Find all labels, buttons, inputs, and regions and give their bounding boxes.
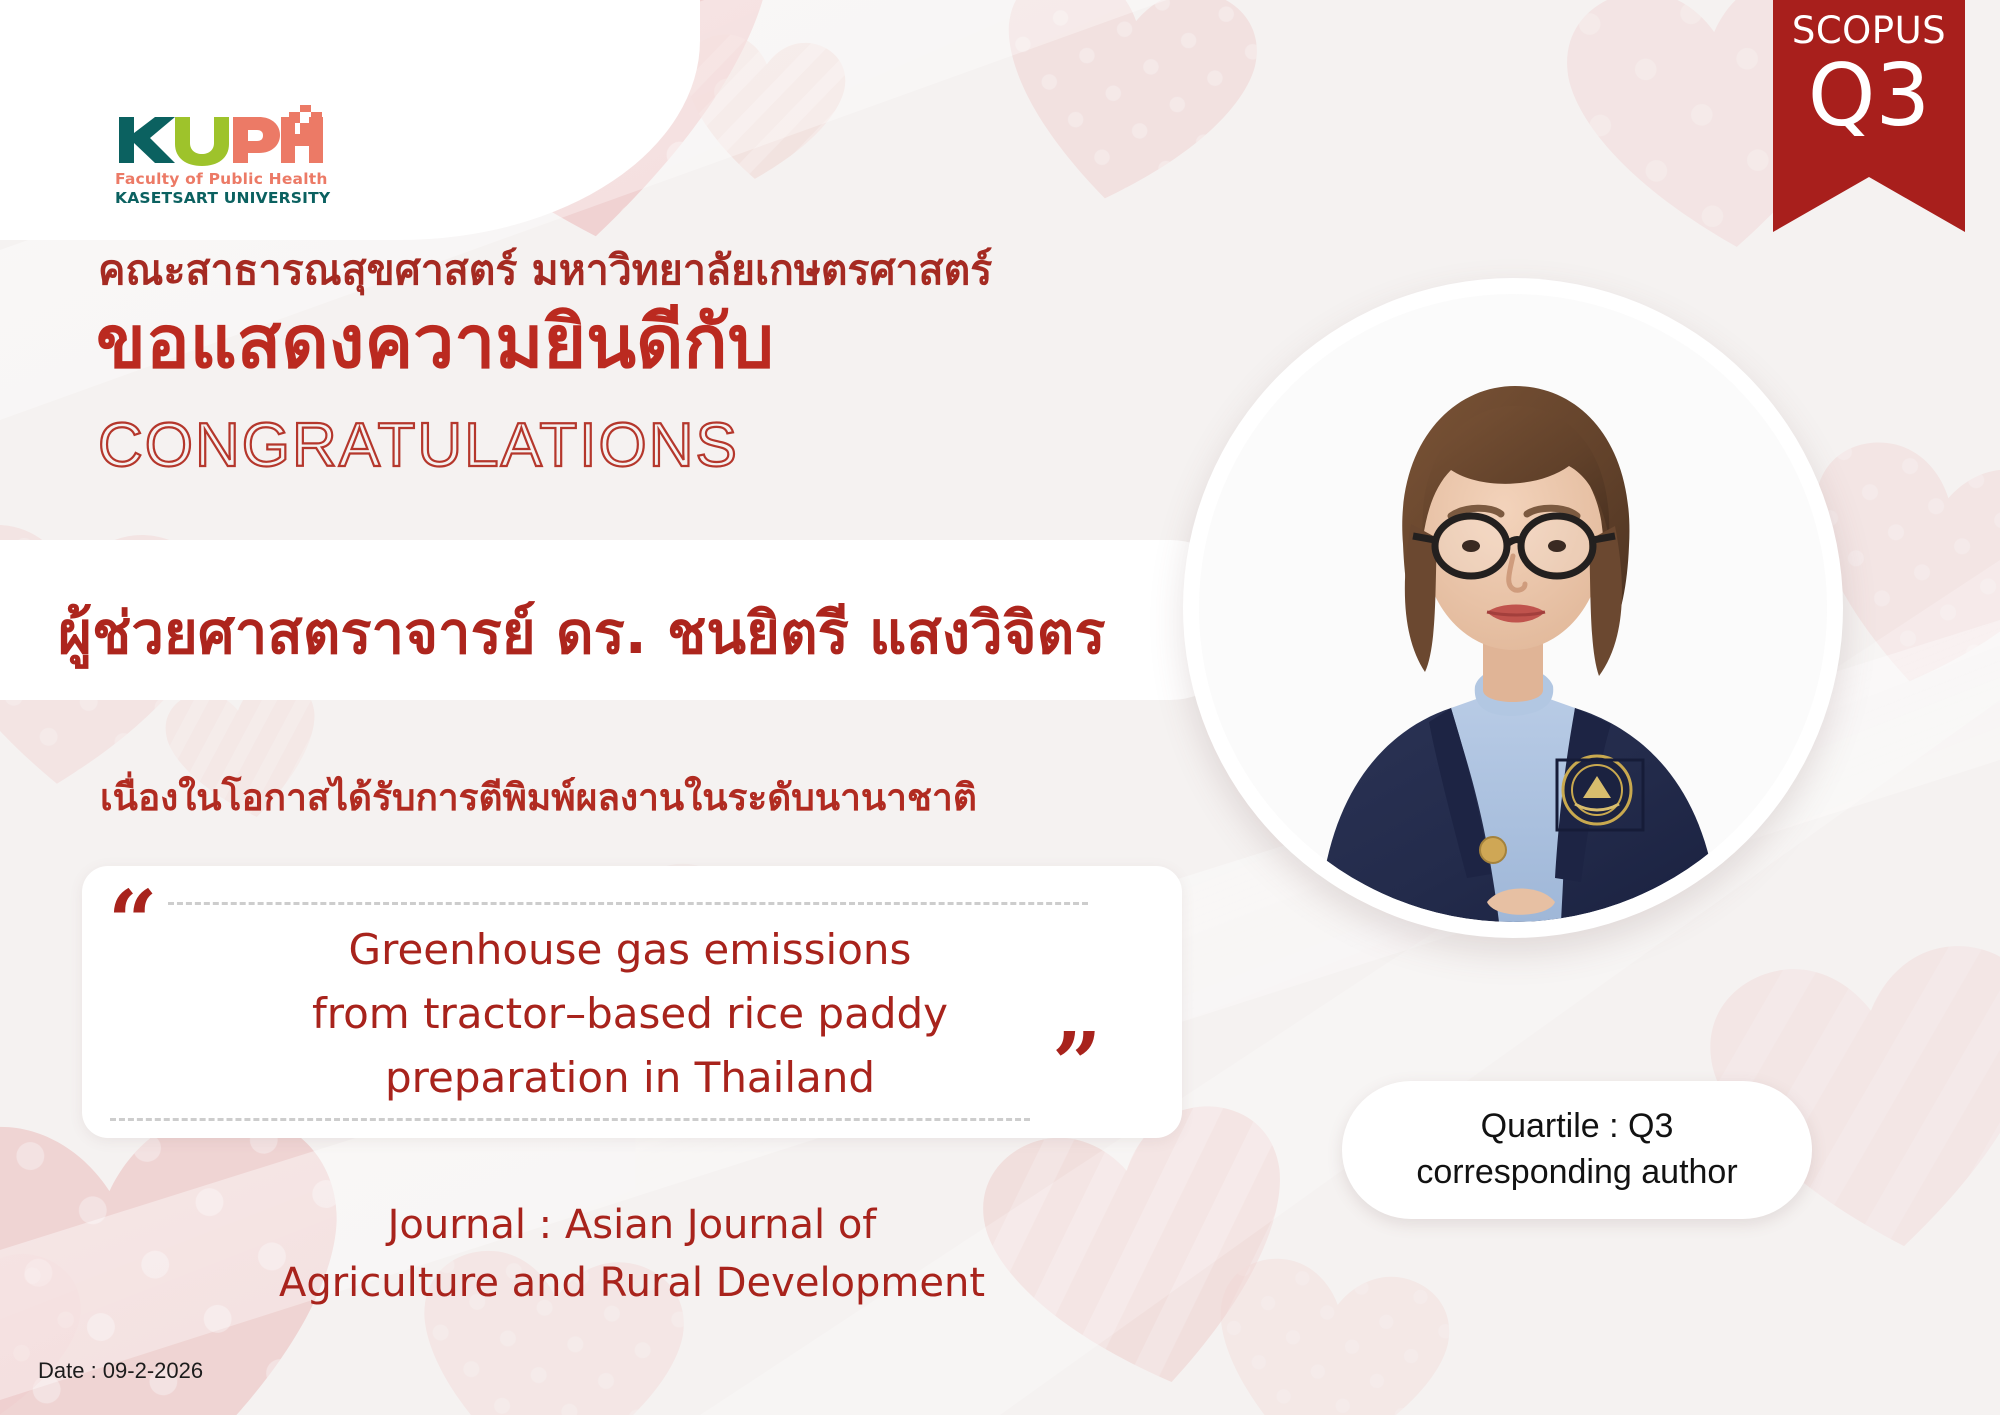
quartile-line-1: Quartile : Q3: [1481, 1104, 1674, 1150]
journal-line-1: Journal : Asian Journal of: [82, 1196, 1182, 1254]
scopus-label: SCOPUS: [1792, 12, 1946, 49]
article-title-line-1: Greenhouse gas emissions: [150, 918, 1110, 982]
close-quote-icon: ”: [1052, 1022, 1101, 1108]
quartile-info-pill: Quartile : Q3 corresponding author: [1342, 1081, 1812, 1219]
logo-faculty-line: Faculty of Public Health: [115, 170, 330, 188]
author-portrait-frame: [1183, 278, 1843, 938]
article-title-line-3: preparation in Thailand: [150, 1046, 1110, 1110]
poster-date: Date : 09-2-2026: [38, 1358, 203, 1384]
journal-info: Journal : Asian Journal of Agriculture a…: [82, 1196, 1182, 1312]
avatar: [1199, 294, 1827, 922]
congratulations-english-heading: CONGRATULATIONS: [98, 410, 739, 481]
congratulations-thai-heading: ขอแสดงความยินดีกับ: [96, 300, 774, 386]
congratulations-poster: Faculty of Public Health KASETSART UNIVE…: [0, 0, 2000, 1415]
article-title-line-2: from tractor–based rice paddy: [150, 982, 1110, 1046]
kuph-logo-mark-icon: [115, 105, 325, 167]
author-name: ผู้ช่วยศาสตราจารย์ ดร. ชนยิตรี แสงวิจิตร: [58, 586, 1105, 679]
kuph-logo: Faculty of Public Health KASETSART UNIVE…: [115, 105, 330, 207]
scopus-quartile-value: Q3: [1808, 55, 1930, 138]
author-portrait-illustration: [1199, 294, 1827, 922]
faculty-heading: คณะสาธารณสุขศาสตร์ มหาวิทยาลัยเกษตรศาสตร…: [98, 238, 992, 303]
article-title-text: Greenhouse gas emissions from tractor–ba…: [150, 918, 1110, 1109]
quote-divider-top: [168, 902, 1088, 905]
quartile-line-2: corresponding author: [1416, 1150, 1737, 1196]
logo-university-line: KASETSART UNIVERSITY: [115, 189, 330, 207]
journal-line-2: Agriculture and Rural Development: [82, 1254, 1182, 1312]
publication-subtitle: เนื่องในโอกาสได้รับการตีพิมพ์ผลงานในระดั…: [100, 768, 977, 827]
quote-divider-bottom: [110, 1118, 1030, 1121]
